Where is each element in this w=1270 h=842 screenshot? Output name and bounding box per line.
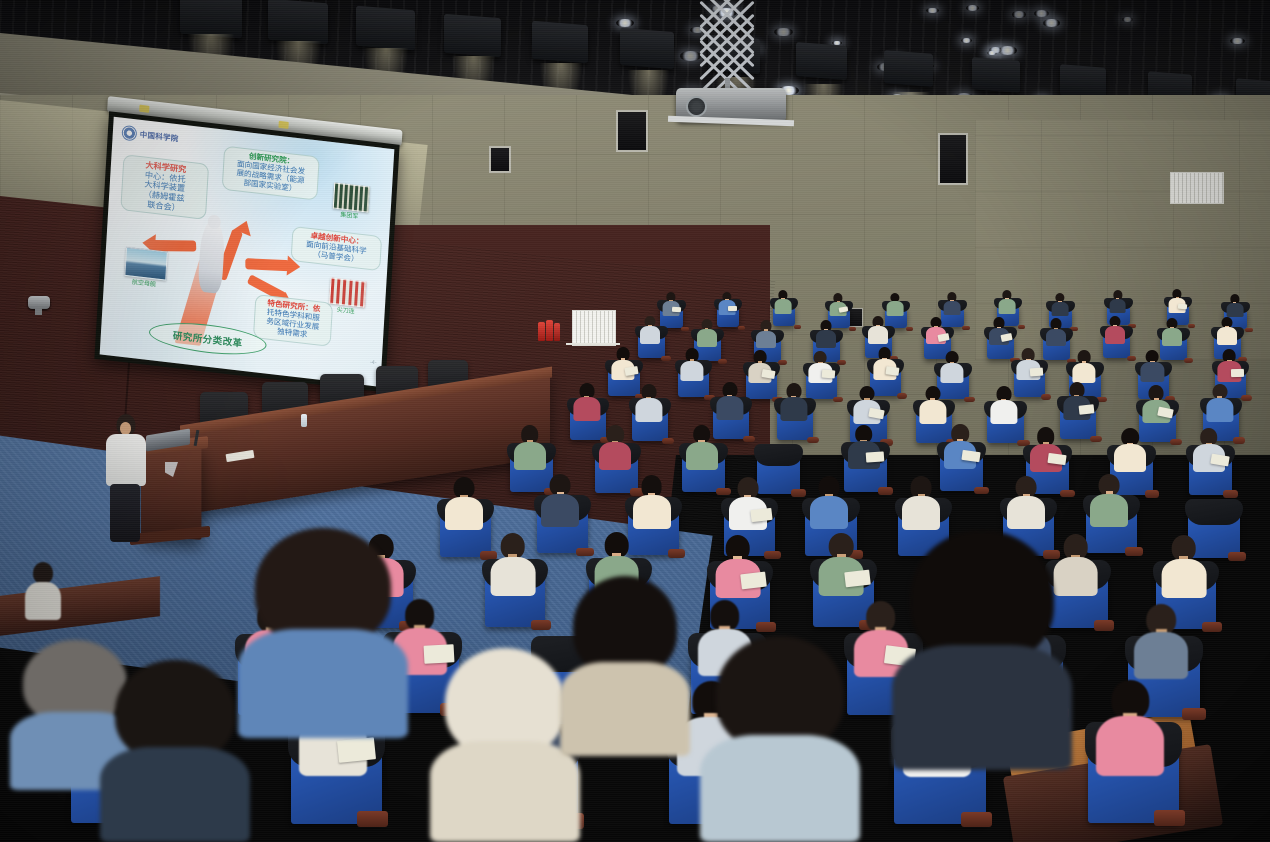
- audience-member: [990, 386, 1017, 424]
- audience-member: [611, 347, 634, 379]
- audience-member: [944, 292, 961, 316]
- audience-member: [1109, 290, 1126, 314]
- audience-member: [944, 424, 976, 469]
- seat-armrest: [906, 327, 914, 331]
- audience-torso: [816, 330, 836, 347]
- foreground-audience-member: [238, 528, 408, 738]
- audience-torso: [919, 400, 946, 424]
- audience-member: [1141, 350, 1164, 382]
- audience-torso: [902, 496, 940, 529]
- audience-member: [830, 293, 847, 317]
- foreground-audience-member: [560, 576, 690, 756]
- seat-armrest: [878, 487, 893, 494]
- notebook: [1178, 303, 1188, 309]
- seat-armrest: [738, 326, 746, 330]
- foreground-shoulders: [892, 645, 1072, 770]
- notebook: [337, 737, 376, 763]
- seat-armrest: [531, 620, 552, 630]
- notebook: [1030, 367, 1043, 375]
- audience-member: [780, 383, 807, 421]
- seat-armrest: [756, 622, 777, 632]
- audience-torso: [944, 301, 961, 316]
- seat-armrest: [1245, 328, 1253, 332]
- audience-torso: [1072, 363, 1095, 383]
- seat-armrest: [897, 393, 908, 398]
- audience-member: [1017, 348, 1040, 380]
- audience-member: [1217, 317, 1237, 345]
- audience-member: [999, 290, 1016, 314]
- audience-torso: [1161, 559, 1206, 598]
- audience-member: [902, 476, 940, 529]
- audience-member: [686, 425, 718, 470]
- audience-torso: [1109, 299, 1126, 314]
- audience-member: [810, 476, 848, 529]
- seat-armrest: [849, 327, 857, 331]
- seat-armrest: [1145, 490, 1160, 497]
- notebook: [822, 370, 835, 378]
- audience-member: [1169, 289, 1186, 313]
- audience-torso: [716, 396, 743, 420]
- seat-armrest: [1127, 356, 1136, 361]
- audience-member: [640, 316, 660, 344]
- audience-member: [1096, 680, 1164, 775]
- audience-member: [1193, 428, 1225, 473]
- foreground-shoulders: [700, 735, 860, 842]
- audience-member: [919, 386, 946, 424]
- audience-seating: [0, 0, 1270, 842]
- foreground-audience-member: [100, 660, 250, 842]
- audience-member: [848, 425, 880, 470]
- audience-member: [1218, 349, 1241, 381]
- seat-armrest: [1202, 622, 1223, 632]
- audience-torso: [573, 397, 600, 421]
- audience-torso: [1096, 716, 1164, 775]
- seat-armrest: [1241, 395, 1252, 400]
- audience-torso: [1226, 303, 1243, 318]
- notebook: [869, 407, 885, 418]
- audience-member: [445, 477, 483, 530]
- audience-torso: [686, 442, 718, 470]
- audience-member: [1072, 350, 1095, 382]
- seat-armrest: [974, 487, 989, 494]
- audience-torso: [1046, 329, 1066, 346]
- audience-member: [940, 351, 963, 383]
- audience-member: [1162, 318, 1182, 346]
- seat-armrest: [1094, 620, 1115, 630]
- seat-armrest: [1182, 708, 1207, 721]
- audience-torso: [697, 329, 717, 346]
- seat-armrest: [791, 489, 806, 496]
- audience-member: [1007, 476, 1045, 529]
- audience-torso: [445, 497, 483, 530]
- audience-member: [1161, 535, 1206, 598]
- audience-member: [662, 292, 679, 316]
- seat-armrest: [962, 326, 970, 330]
- audience-member: [819, 533, 864, 596]
- audience-member: [1143, 385, 1170, 423]
- seat-armrest: [661, 356, 670, 361]
- audience-torso: [1051, 302, 1068, 317]
- audience-member: [541, 474, 579, 527]
- audience-member: [715, 535, 760, 598]
- audience-member: [1226, 294, 1243, 318]
- seat-armrest: [961, 812, 992, 828]
- audience-member: [809, 351, 832, 383]
- audience-member: [868, 316, 888, 344]
- audience-torso: [756, 331, 776, 348]
- seat-back-trim: [754, 444, 803, 465]
- foreground-shoulders: [560, 662, 690, 756]
- seat-armrest: [1060, 490, 1075, 497]
- audience-torso: [990, 400, 1017, 424]
- audience-torso: [1114, 444, 1146, 472]
- audience-member: [1051, 293, 1068, 317]
- notebook: [750, 508, 772, 523]
- audience-member: [490, 533, 535, 596]
- foreground-audience-member: [430, 648, 580, 842]
- audience-member: [729, 477, 767, 530]
- audience-torso: [490, 557, 535, 596]
- seat-armrest: [718, 359, 727, 364]
- foreground-shoulders: [430, 741, 580, 842]
- seat-armrest: [357, 811, 388, 827]
- notebook: [866, 451, 884, 463]
- audience-torso: [1134, 632, 1188, 679]
- audience-torso: [775, 299, 792, 314]
- seat-armrest: [743, 436, 755, 442]
- audience-torso: [868, 326, 888, 343]
- seat-armrest: [1154, 810, 1185, 826]
- audience-member: [1206, 384, 1233, 422]
- audience-torso: [640, 326, 660, 343]
- seat-armrest: [1188, 324, 1196, 328]
- audience-torso: [1007, 496, 1045, 529]
- audience-member: [633, 475, 671, 528]
- audience-torso: [1090, 494, 1128, 527]
- audience-torso: [541, 494, 579, 527]
- notebook: [937, 332, 949, 341]
- audience-torso: [999, 299, 1016, 314]
- audience-member: [989, 317, 1009, 345]
- seat-armrest: [1041, 394, 1052, 399]
- seat-armrest: [1125, 547, 1142, 556]
- foreground-shoulders: [238, 629, 408, 738]
- seat-armrest: [576, 548, 593, 557]
- audience-member: [748, 350, 771, 382]
- seat-armrest: [1090, 436, 1102, 442]
- audience-member: [775, 290, 792, 314]
- audience-member: [816, 320, 836, 348]
- audience-member: [1114, 428, 1146, 473]
- audience-torso: [1162, 328, 1182, 345]
- foreground-shoulders: [100, 747, 250, 842]
- seat-armrest: [1233, 437, 1245, 443]
- seat-armrest: [1223, 490, 1238, 497]
- seat-armrest: [1184, 358, 1193, 363]
- audience-torso: [1105, 326, 1125, 343]
- audience-torso: [635, 398, 662, 422]
- audience-torso: [1141, 362, 1164, 382]
- audience-member: [1105, 316, 1125, 344]
- audience-torso: [514, 442, 546, 470]
- seat-back-trim: [1185, 499, 1242, 524]
- audience-torso: [599, 442, 631, 470]
- notebook: [886, 366, 900, 375]
- audience-member: [756, 320, 776, 348]
- audience-member: [1063, 382, 1090, 420]
- audience-member: [1046, 318, 1066, 346]
- seat-armrest: [681, 327, 689, 331]
- audience-member: [719, 292, 736, 316]
- audience-torso: [940, 363, 963, 383]
- notebook: [1231, 369, 1244, 377]
- audience-member: [635, 384, 662, 422]
- audience-member: [573, 383, 600, 421]
- foreground-audience-member: [892, 530, 1072, 770]
- audience-member: [514, 425, 546, 470]
- seat-armrest: [1228, 552, 1245, 561]
- audience-member: [681, 348, 704, 380]
- seat-armrest: [807, 437, 819, 443]
- seat-armrest: [764, 551, 781, 560]
- audience-member: [887, 293, 904, 317]
- seat-armrest: [668, 549, 685, 558]
- audience-member: [599, 425, 631, 470]
- seat-armrest: [794, 325, 802, 329]
- audience-torso: [810, 496, 848, 529]
- notebook: [672, 306, 682, 312]
- audience-torso: [1206, 398, 1233, 422]
- audience-member: [1090, 474, 1128, 527]
- seat-armrest: [1170, 439, 1182, 445]
- seat-armrest: [1018, 325, 1026, 329]
- audience-member: [1134, 604, 1188, 680]
- audience-member: [1030, 427, 1062, 472]
- audience-member: [716, 382, 743, 420]
- audience-torso: [780, 397, 807, 421]
- audience-torso: [633, 495, 671, 528]
- audience-torso: [887, 301, 904, 316]
- seat-armrest: [964, 397, 975, 402]
- foreground-audience-member: [700, 636, 860, 842]
- notebook: [728, 306, 737, 311]
- foreground-head: [255, 528, 391, 646]
- auditorium-photo: 中国科学院 大科学研究 中心：依托 大科学装置: [0, 0, 1270, 842]
- audience-torso: [1217, 327, 1237, 344]
- audience-torso: [681, 361, 704, 381]
- seat-armrest: [833, 397, 844, 402]
- audience-member: [697, 319, 717, 347]
- seat-armrest: [662, 438, 674, 444]
- notebook: [1078, 404, 1094, 414]
